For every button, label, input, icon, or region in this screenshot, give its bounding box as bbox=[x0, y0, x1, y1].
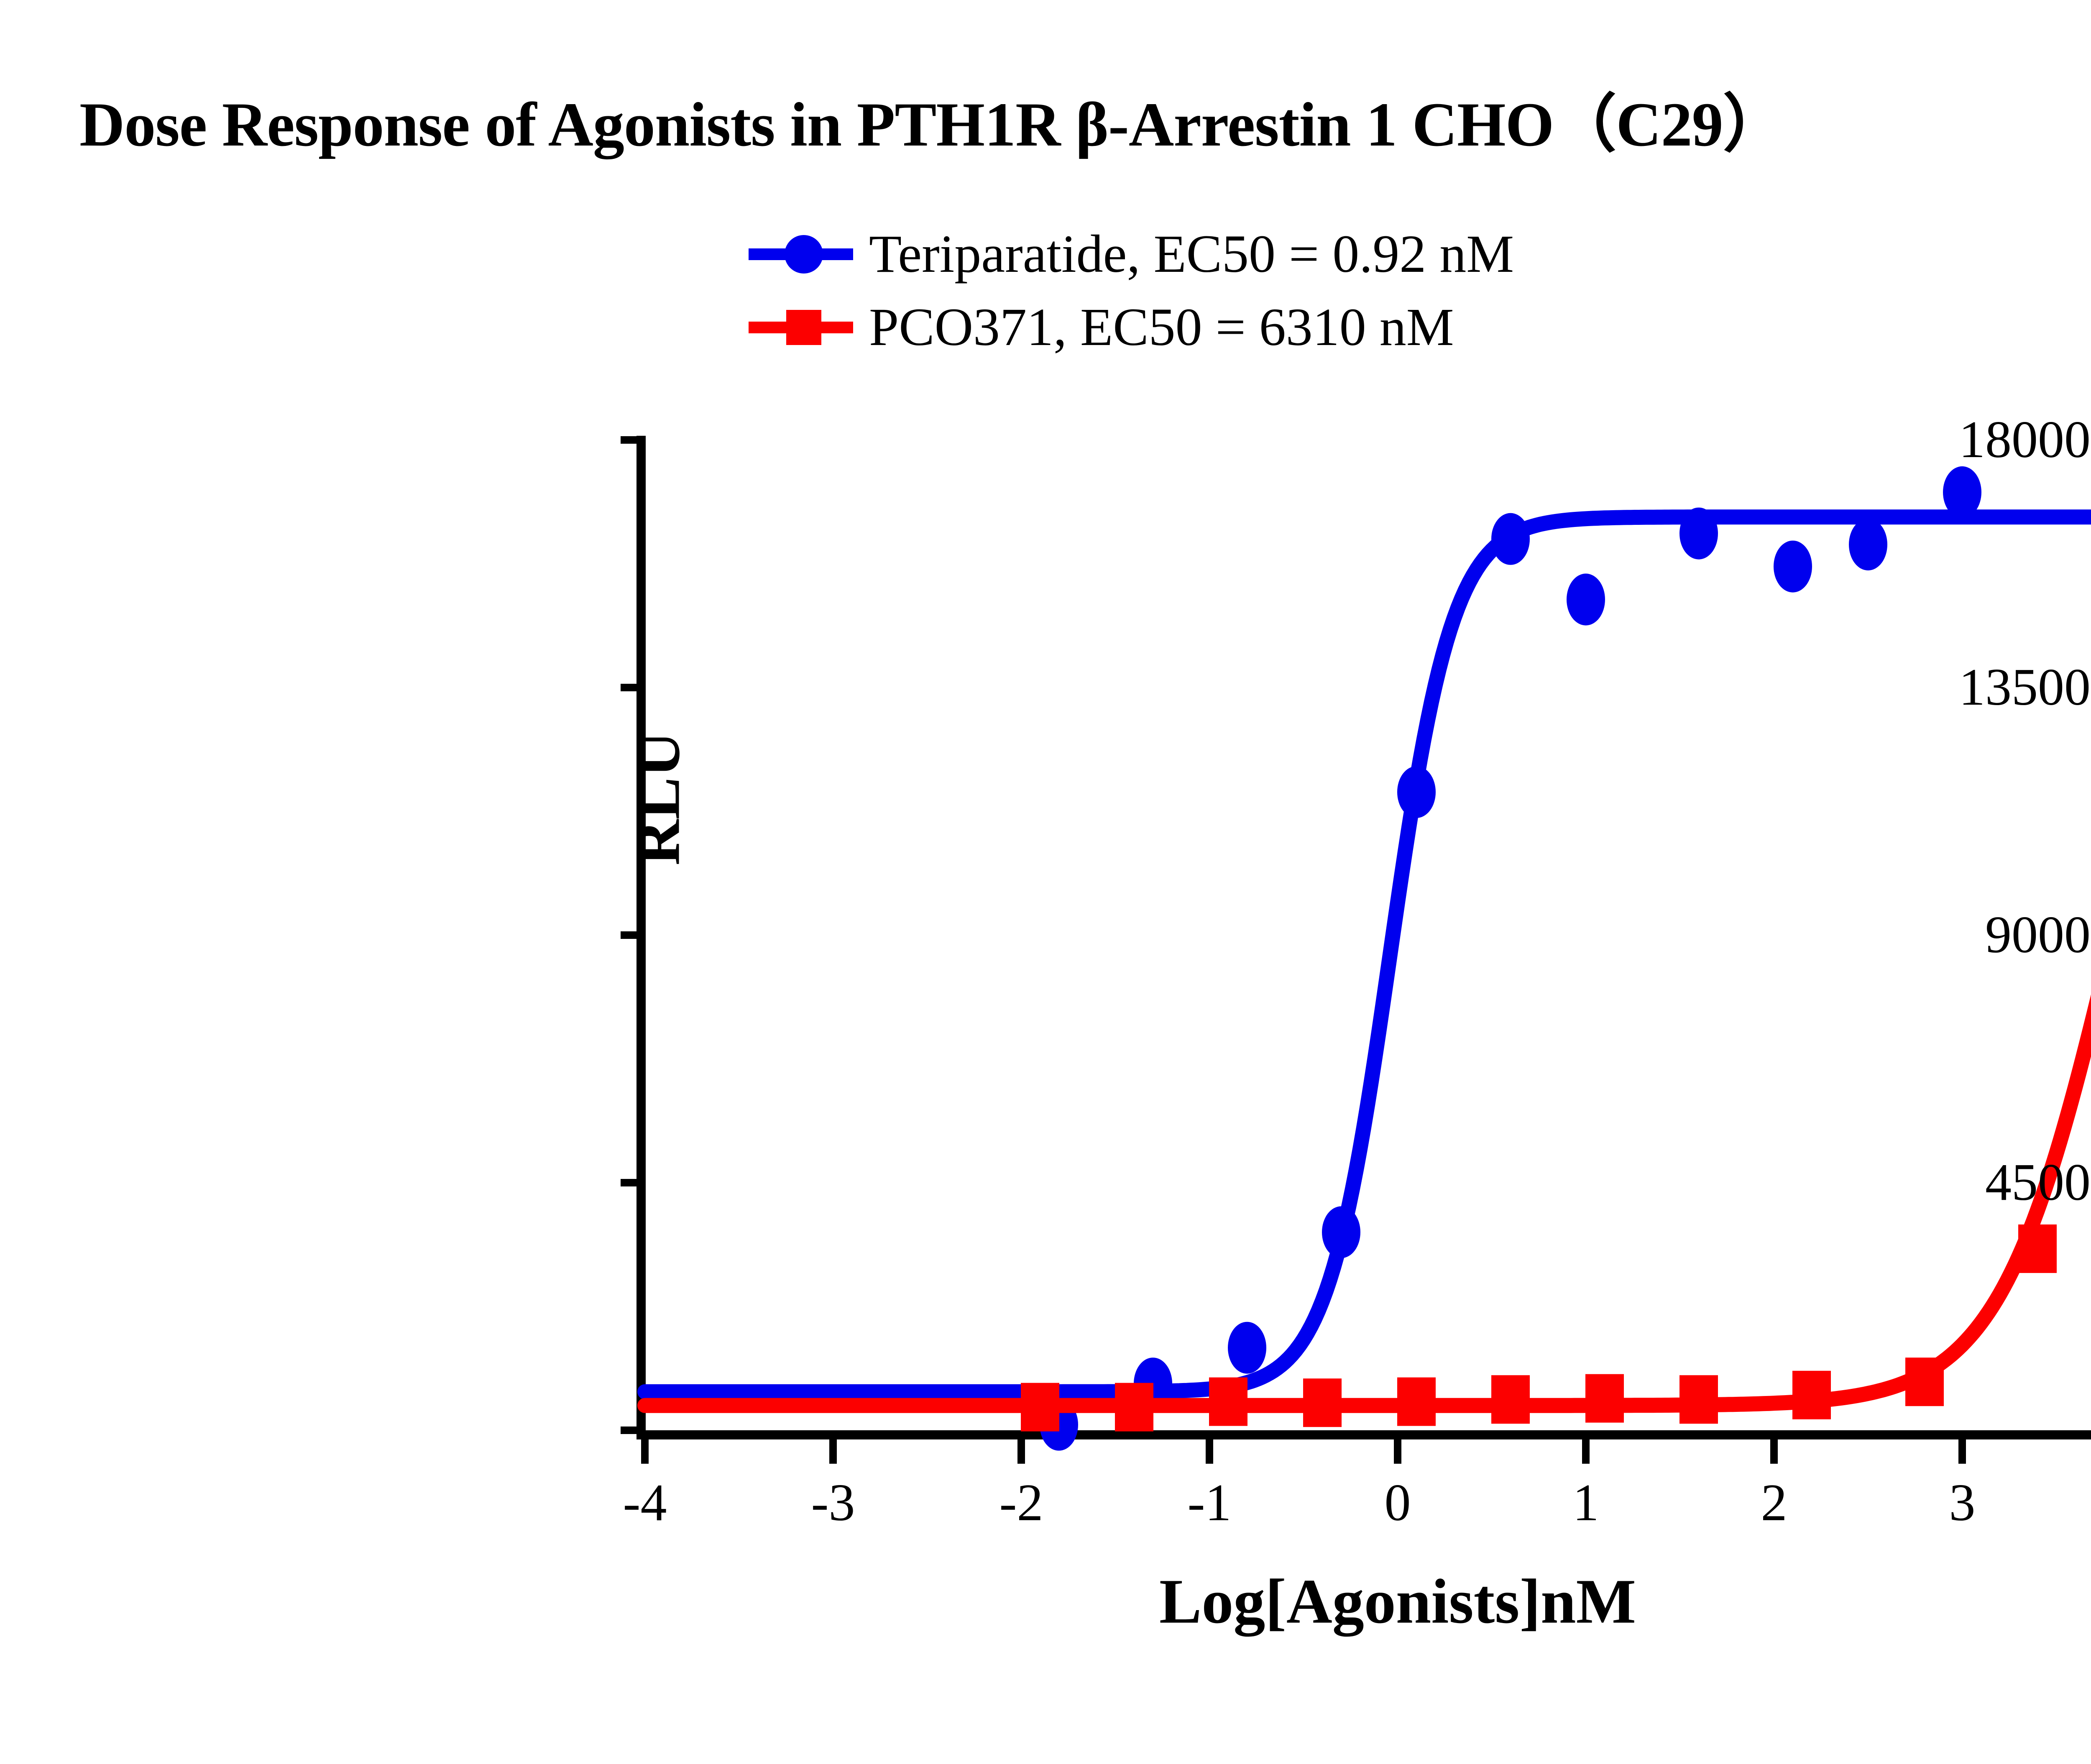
y-tick bbox=[621, 436, 645, 444]
y-tick-label: 180000 bbox=[1959, 410, 2091, 470]
series-curve-teriparatide bbox=[645, 517, 2091, 1392]
data-point bbox=[1849, 519, 1887, 570]
x-tick-label: -3 bbox=[811, 1473, 855, 1533]
x-tick bbox=[1206, 1439, 1213, 1464]
x-tick bbox=[1770, 1439, 1778, 1464]
x-axis-label: Log[Agonists]nM bbox=[645, 1565, 2091, 1638]
data-point bbox=[1679, 1375, 1718, 1424]
data-point bbox=[1228, 1322, 1266, 1374]
legend-item-pco371[interactable]: PCO371, EC50 = 6310 nM bbox=[744, 291, 2091, 364]
data-series-layer bbox=[645, 440, 2091, 1430]
x-tick bbox=[1582, 1439, 1590, 1464]
series-markers-pco371 bbox=[1021, 895, 2091, 1432]
chart-canvas: Dose Response of Agonists in PTH1R β-Arr… bbox=[0, 0, 2091, 1764]
data-point bbox=[2018, 1225, 2057, 1273]
data-point bbox=[1792, 1371, 1831, 1419]
x-tick bbox=[641, 1439, 649, 1464]
x-tick-label: 2 bbox=[1761, 1473, 1787, 1533]
data-point bbox=[1397, 766, 1436, 818]
data-point bbox=[1021, 1383, 1059, 1432]
data-point bbox=[1585, 1374, 1624, 1423]
data-point bbox=[1905, 1358, 1944, 1406]
data-point bbox=[1679, 508, 1718, 560]
legend-item-teriparatide[interactable]: Teriparatide, EC50 = 0.92 nM bbox=[744, 217, 2091, 291]
data-point bbox=[1491, 1375, 1530, 1424]
series-markers-teriparatide bbox=[1040, 466, 1981, 1451]
legend-marker-square bbox=[744, 291, 857, 364]
x-tick bbox=[1394, 1439, 1401, 1464]
data-point bbox=[1115, 1383, 1153, 1432]
x-tick bbox=[829, 1439, 837, 1464]
x-tick bbox=[1017, 1439, 1025, 1464]
y-tick-label: 135000 bbox=[1959, 657, 2091, 718]
y-tick bbox=[621, 1427, 645, 1434]
x-tick-label: -1 bbox=[1188, 1473, 1232, 1533]
data-point bbox=[1491, 513, 1530, 565]
data-point bbox=[1397, 1378, 1436, 1426]
legend-marker-circle bbox=[744, 217, 857, 291]
y-axis-label: RLU bbox=[621, 731, 694, 866]
data-point bbox=[1322, 1206, 1360, 1258]
data-point bbox=[1209, 1378, 1247, 1426]
plot-area: 04500090000135000180000 -4-3-2-101234 RL… bbox=[645, 440, 2091, 1430]
data-point bbox=[1774, 541, 1812, 593]
legend-label-pco371: PCO371, EC50 = 6310 nM bbox=[857, 297, 1454, 358]
y-tick bbox=[621, 684, 645, 691]
x-tick-label: -4 bbox=[623, 1473, 667, 1533]
page-title: Dose Response of Agonists in PTH1R β-Arr… bbox=[79, 73, 2091, 164]
data-point bbox=[1303, 1378, 1342, 1427]
legend-label-teriparatide: Teriparatide, EC50 = 0.92 nM bbox=[857, 223, 1514, 285]
y-tick bbox=[621, 1179, 645, 1186]
data-point bbox=[1943, 466, 1981, 518]
chart-legend: Teriparatide, EC50 = 0.92 nM PCO371, EC5… bbox=[744, 217, 2091, 364]
x-tick-label: 1 bbox=[1573, 1473, 1599, 1533]
y-tick-label: 45000 bbox=[1985, 1153, 2091, 1213]
x-axis-line bbox=[637, 1430, 2091, 1439]
y-tick-label: 90000 bbox=[1985, 905, 2091, 965]
x-tick-label: -2 bbox=[999, 1473, 1043, 1533]
x-tick-label: 3 bbox=[1949, 1473, 1976, 1533]
data-point bbox=[1567, 574, 1605, 626]
x-tick bbox=[1958, 1439, 1966, 1464]
x-tick-label: 0 bbox=[1385, 1473, 1411, 1533]
y-tick bbox=[621, 931, 645, 939]
